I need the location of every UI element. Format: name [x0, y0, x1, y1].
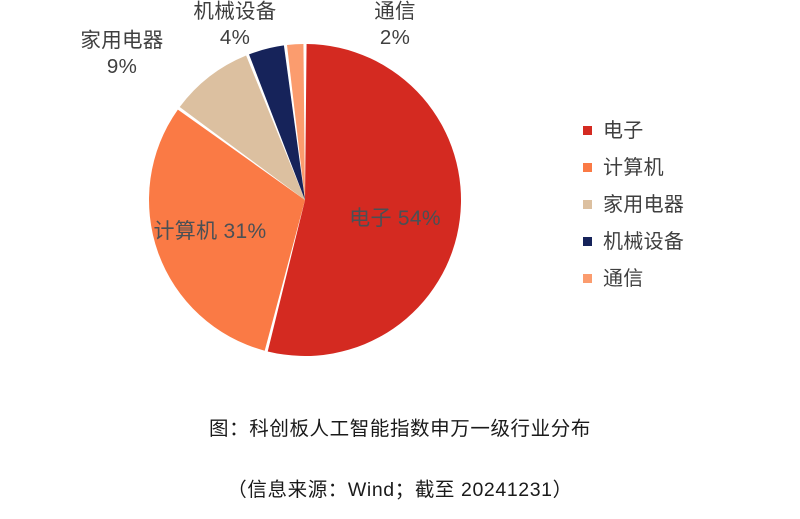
callout-pct-jixieshebei: 4%: [160, 25, 310, 51]
legend-swatch-icon: [583, 274, 592, 283]
chart-caption-title: 图：科创板人工智能指数申万一级行业分布: [0, 412, 800, 441]
legend-item[interactable]: 家用电器: [583, 186, 783, 223]
legend-item[interactable]: 通信: [583, 260, 783, 297]
chart-caption-source: （信息来源：Wind；截至 20241231）: [0, 473, 800, 502]
callout-pct-tongxin: 2%: [335, 25, 455, 51]
pie-chart-plot-area: 家用电器 9% 机械设备 4% 通信 2% 电子 54% 计算机 31%: [0, 0, 560, 395]
pie-chart-figure: 家用电器 9% 机械设备 4% 通信 2% 电子 54% 计算机 31% 电子计…: [0, 0, 800, 519]
legend-item-label: 家用电器: [603, 195, 684, 215]
slice-name-jisuanji: 计算机: [154, 220, 218, 243]
slice-pct-jisuanji: 31%: [224, 220, 267, 243]
legend-swatch-icon: [583, 163, 592, 172]
legend-item-label: 计算机: [603, 158, 664, 178]
slice-pct-dianzi: 54%: [398, 207, 441, 230]
callout-name-tongxin: 通信: [374, 0, 416, 23]
legend-swatch-icon: [583, 200, 592, 209]
callout-label-tongxin: 通信 2%: [335, 0, 455, 51]
legend-item-label: 电子: [603, 121, 644, 141]
callout-pct-jiayongdianqi: 9%: [47, 54, 197, 80]
callout-label-jixieshebei: 机械设备 4%: [160, 0, 310, 51]
callout-name-jiayongdianqi: 家用电器: [80, 29, 163, 52]
legend-swatch-icon: [583, 126, 592, 135]
legend-item[interactable]: 机械设备: [583, 223, 783, 260]
legend-item[interactable]: 电子: [583, 112, 783, 149]
legend-swatch-icon: [583, 237, 592, 246]
slice-name-dianzi: 电子: [349, 207, 392, 230]
chart-legend: 电子计算机家用电器机械设备通信: [583, 112, 783, 297]
slice-label-dianzi: 电子 54%: [330, 205, 460, 232]
legend-item[interactable]: 计算机: [583, 149, 783, 186]
pie-slice-group: [149, 44, 461, 356]
slice-label-jisuanji: 计算机 31%: [140, 218, 280, 245]
callout-name-jixieshebei: 机械设备: [193, 0, 276, 23]
legend-item-label: 机械设备: [603, 232, 684, 252]
caption-block: 图：科创板人工智能指数申万一级行业分布 （信息来源：Wind；截至 202412…: [0, 412, 800, 502]
legend-item-label: 通信: [603, 269, 644, 289]
